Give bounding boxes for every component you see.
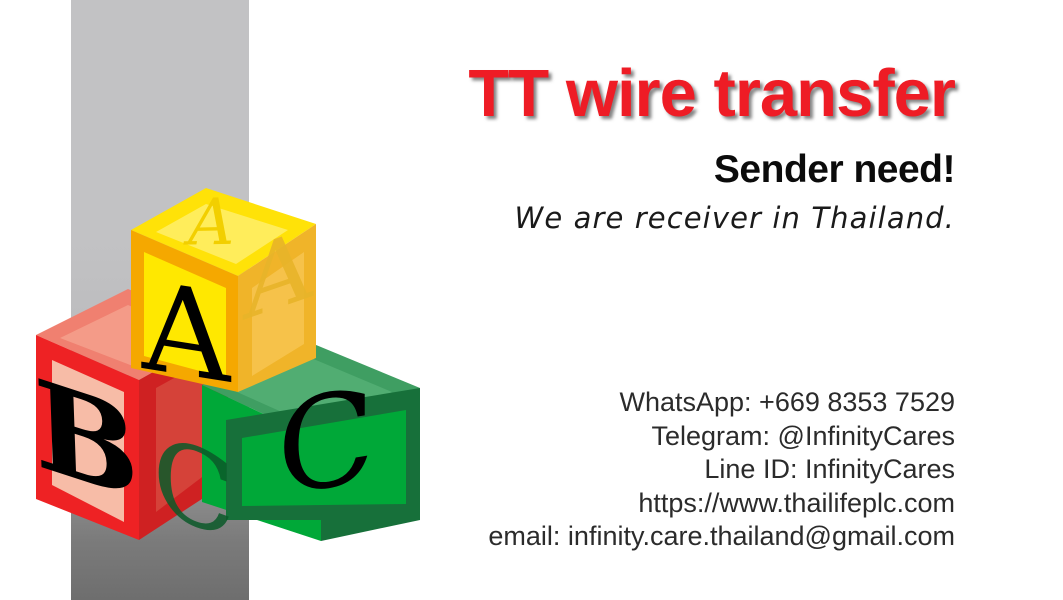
svg-text:A: A — [141, 254, 231, 410]
text-column: TT wire transfer Sender need! We are rec… — [260, 0, 955, 600]
contact-line-whatsapp[interactable]: WhatsApp: +669 8353 7529 — [260, 386, 955, 420]
subtitle: Sender need! — [260, 148, 955, 192]
contact-line-website[interactable]: https://www.thailifeplc.com — [260, 487, 955, 521]
flyer-canvas: B C — [0, 0, 1063, 600]
tagline-text: We are receiver in Thailand. — [260, 198, 955, 238]
contact-line-telegram[interactable]: Telegram: @InfinityCares — [260, 420, 955, 454]
contact-line-email[interactable]: email: infinity.care.thailand@gmail.com — [260, 520, 955, 554]
contact-block: WhatsApp: +669 8353 7529 Telegram: @Infi… — [260, 386, 955, 554]
contact-line-line-id[interactable]: Line ID: InfinityCares — [260, 453, 955, 487]
page-title: TT wire transfer — [260, 58, 955, 130]
